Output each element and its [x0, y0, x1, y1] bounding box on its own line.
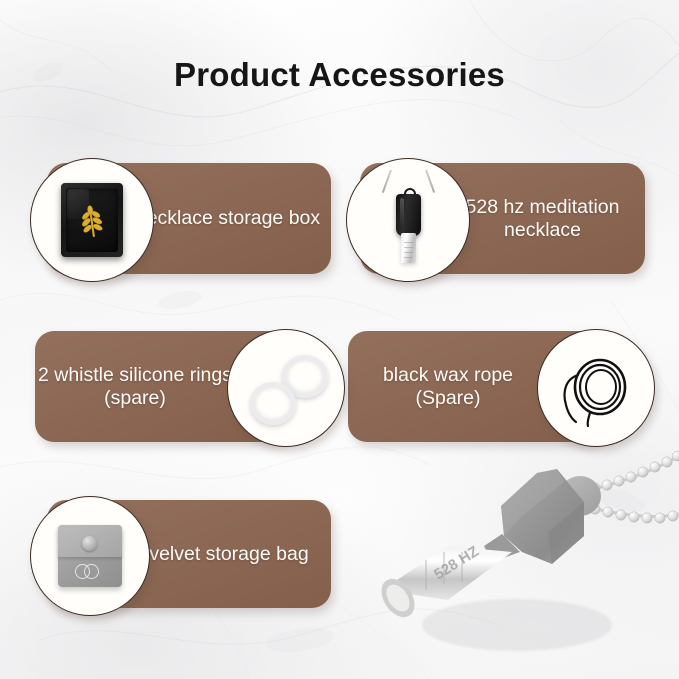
pouch-snap-button — [82, 536, 97, 551]
accessory-label: 528 hz meditation necklace — [440, 163, 645, 274]
chain-strand-right — [425, 170, 435, 193]
chain-strand-left — [382, 170, 392, 193]
hero-product-photo: 528 HZ — [352, 440, 679, 679]
silicone-ring-lower — [250, 382, 296, 425]
pendant-silicone-body — [396, 194, 421, 236]
pouch-logo — [75, 564, 105, 578]
silicone-rings-icon — [244, 353, 328, 423]
accessory-image-bubble — [30, 496, 150, 616]
velvet-pouch-icon — [58, 525, 122, 587]
accessory-label: 2 whistle silicone rings (spare) — [35, 331, 235, 442]
pendant-metal-tube — [401, 233, 416, 263]
accessory-label: necklace storage box — [125, 163, 331, 274]
rope-coil-paths — [554, 349, 638, 427]
whistle-pendant-icon — [368, 170, 448, 270]
wax-rope-coil-icon — [554, 349, 638, 427]
accessory-label: velvet storage bag — [127, 500, 331, 608]
page-title: Product Accessories — [0, 55, 679, 95]
jewelry-box-icon — [61, 183, 123, 257]
accessory-image-bubble — [537, 329, 655, 447]
product-shadow — [422, 599, 612, 651]
accessory-label: black wax rope (Spare) — [348, 331, 548, 442]
gold-wheat-emblem-icon — [61, 183, 123, 257]
accessory-image-bubble — [30, 158, 154, 282]
accessory-image-bubble — [346, 158, 470, 282]
accessory-image-bubble — [227, 329, 345, 447]
